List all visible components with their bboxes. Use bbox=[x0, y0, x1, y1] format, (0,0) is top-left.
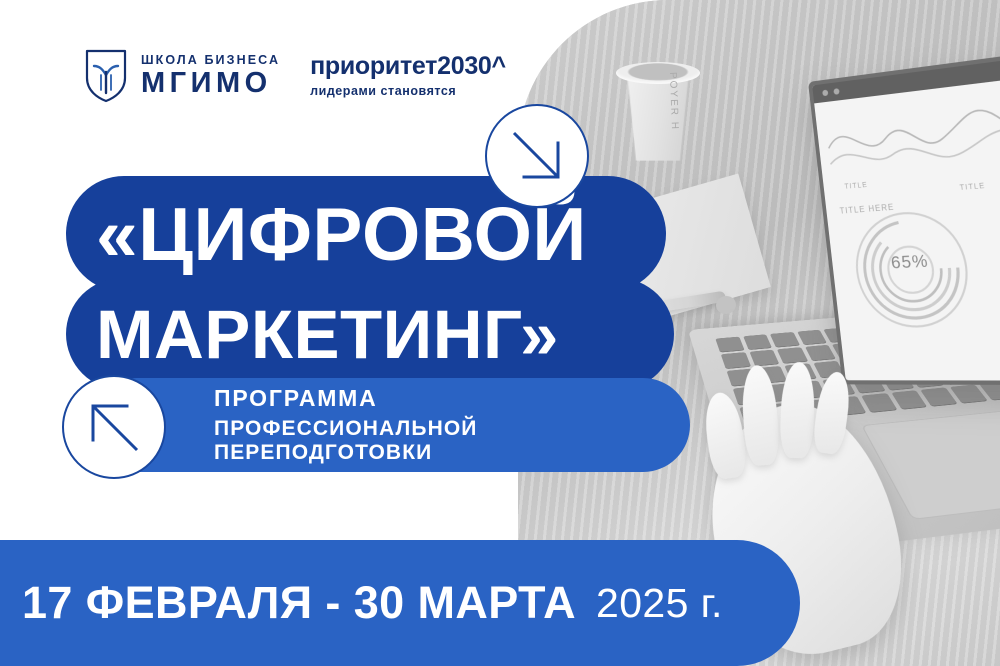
logo-row: ШКОЛА БИЗНЕСА МГИМО приоритет2030^ лидер… bbox=[84, 48, 506, 104]
arrow-up-left-icon bbox=[83, 396, 145, 458]
coffee-cup-rim bbox=[616, 62, 700, 84]
arrow-up-left-badge bbox=[62, 375, 166, 479]
mgimo-logo-line1: ШКОЛА БИЗНЕСА bbox=[141, 54, 280, 67]
priority-2030-logo: приоритет2030^ лидерами становятся bbox=[306, 54, 506, 98]
mgimo-shield-emblem-icon bbox=[84, 48, 128, 104]
program-title-line1: «ЦИФРОВОЙ bbox=[66, 176, 666, 292]
date-range: 17 ФЕВРАЛЯ - 30 МАРТА bbox=[22, 577, 576, 629]
mgimo-logo-line2: МГИМО bbox=[141, 69, 280, 98]
date-bar: 17 ФЕВРАЛЯ - 30 МАРТА 2025 г. bbox=[0, 540, 800, 666]
promo-poster: POYER H bbox=[0, 0, 1000, 666]
laptop-screen: TITLE TITLE TITLE TITLE HERE TITLE HERE … bbox=[808, 24, 1000, 386]
priority-logo-main: приоритет2030^ bbox=[310, 54, 506, 79]
arrow-down-right-icon bbox=[506, 125, 568, 187]
subtitle-line1: ПРОГРАММА bbox=[214, 385, 690, 412]
coffee-cup-label: POYER H bbox=[667, 72, 680, 131]
program-title-line2: МАРКЕТИНГ» bbox=[66, 278, 674, 390]
dashboard-axis-label-2: TITLE bbox=[959, 183, 985, 193]
mgimo-logo: ШКОЛА БИЗНЕСА МГИМО bbox=[84, 48, 280, 104]
priority-logo-tagline: лидерами становятся bbox=[310, 85, 506, 98]
program-subtitle: ПРОГРАММА ПРОФЕССИОНАЛЬНОЙ ПЕРЕПОДГОТОВК… bbox=[90, 378, 690, 472]
arrow-down-right-badge bbox=[485, 104, 589, 208]
dashboard-axis-label-1: TITLE bbox=[844, 182, 868, 191]
subtitle-line2: ПРОФЕССИОНАЛЬНОЙ ПЕРЕПОДГОТОВКИ bbox=[214, 417, 690, 465]
date-year: 2025 г. bbox=[596, 580, 723, 627]
